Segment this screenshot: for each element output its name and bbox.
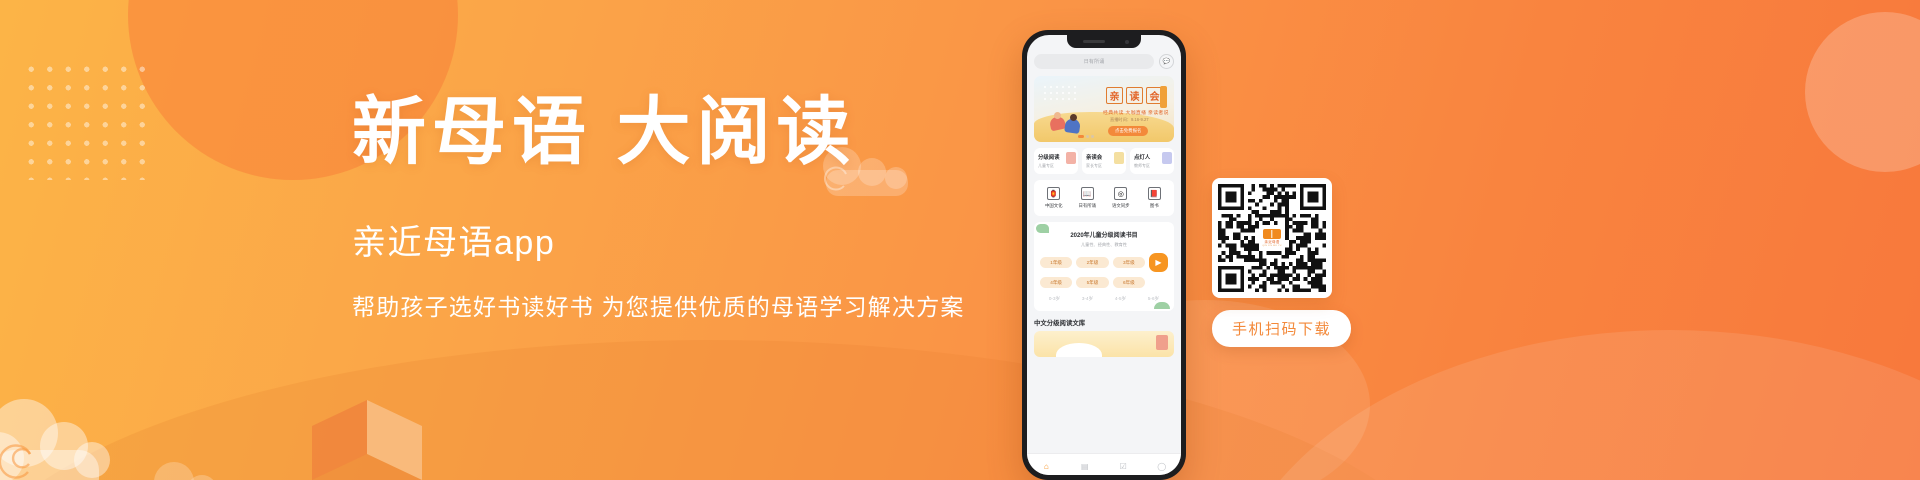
phone-speaker <box>1083 40 1105 43</box>
tab-home[interactable]: ⌂ <box>1027 456 1066 474</box>
grade-pill[interactable]: 4年级 <box>1040 277 1072 288</box>
age-row: 0-3岁 3-4岁 4-5岁 5-6岁 <box>1040 293 1168 304</box>
promo-date: 直播时间：9.16-9.27 <box>1110 117 1149 123</box>
promo-title: 亲 读 会 <box>1106 87 1163 104</box>
book-logo-icon <box>1263 229 1281 239</box>
decor-cube <box>312 392 422 480</box>
library-section-title: 中文分级阅读文库 <box>1034 318 1174 327</box>
quick-link-label: 日有所诵 <box>1071 203 1105 209</box>
quick-link-label: 语文同步 <box>1104 203 1138 209</box>
promo-subtitle: 经典共读 大咖直播 亲读者说 <box>1103 109 1169 116</box>
promo-card[interactable]: 亲 读 会 经典共读 大咖直播 亲读者说 直播时间：9.16-9.27 点击免费… <box>1034 76 1174 142</box>
quick-link-textbook-sync[interactable]: ◎ 语文同步 <box>1104 187 1138 209</box>
quick-link-list: 🏮 中国文化 📖 日有所诵 ◎ 语文同步 📕 图书 <box>1034 180 1174 216</box>
book-icon <box>1162 152 1172 164</box>
carousel-dots[interactable] <box>1078 135 1094 138</box>
target-icon: ◎ <box>1114 187 1127 200</box>
carousel-dot[interactable] <box>1091 135 1094 138</box>
decor-arc <box>1056 343 1102 357</box>
book-icon <box>1114 152 1124 164</box>
qr-code[interactable]: 亲近母语 QIN JIN MU YU <box>1212 178 1332 298</box>
quick-link-label: 中国文化 <box>1037 203 1071 209</box>
quick-link-label: 图书 <box>1138 203 1172 209</box>
age-pill[interactable]: 3-4岁 <box>1073 293 1102 304</box>
age-pill[interactable]: 0-3岁 <box>1040 293 1069 304</box>
book-open-icon: 📖 <box>1081 187 1094 200</box>
home-icon: ⌂ <box>1044 462 1049 471</box>
decor-leaf <box>1036 224 1049 233</box>
qr-download-block: 亲近母语 QIN JIN MU YU 手机扫码下载 <box>1212 178 1332 347</box>
booklist-subtitle: 儿童性、经典性、教育性 <box>1040 242 1168 248</box>
decor-hill-bottom-right <box>1220 330 1920 480</box>
decor-dot-grid <box>22 60 152 180</box>
lantern-icon: 🏮 <box>1047 187 1060 200</box>
grade-pill[interactable]: 5年级 <box>1076 277 1108 288</box>
book-icon <box>1156 335 1168 350</box>
lantern-glyph: 🏮 <box>1049 190 1058 198</box>
play-button[interactable]: ▶ <box>1149 253 1168 272</box>
grade-pill[interactable]: 3年级 <box>1113 257 1145 268</box>
age-pill[interactable]: 4-5岁 <box>1106 293 1135 304</box>
promo-title-char: 读 <box>1126 87 1143 104</box>
decor-circle-right <box>1805 12 1920 172</box>
phone-camera <box>1125 40 1129 44</box>
grade-row-1: 1年级 2年级 3年级 ▶ <box>1040 253 1168 272</box>
person-icon: ◯ <box>1157 462 1166 471</box>
message-icon[interactable]: 💬 <box>1159 54 1174 69</box>
decor-leaf <box>1154 302 1170 309</box>
brand-name-pinyin: QIN JIN MU YU <box>1262 245 1281 247</box>
decor-hill-bottom <box>0 340 1460 480</box>
grade-pill[interactable]: 1年级 <box>1040 257 1072 268</box>
booklist-title: 2020年儿童分级阅读书目 <box>1040 230 1168 239</box>
carousel-dot[interactable] <box>1086 135 1089 138</box>
phone-notch <box>1067 35 1141 48</box>
grade-pill[interactable]: 2年级 <box>1076 257 1108 268</box>
phone-screen: 日有所诵 💬 亲 读 会 经典共读 大咖直播 <box>1027 35 1181 475</box>
app-search-row: 日有所诵 💬 <box>1034 54 1174 69</box>
book-icon: 📕 <box>1148 187 1161 200</box>
decor-sky-dots <box>1042 84 1078 102</box>
download-button[interactable]: 手机扫码下载 <box>1212 310 1351 347</box>
quick-link-daily-recitation[interactable]: 📖 日有所诵 <box>1071 187 1105 209</box>
cloud-icon <box>148 450 238 480</box>
phone-mockup: 日有所诵 💬 亲 读 会 经典共读 大咖直播 <box>1022 30 1186 480</box>
zone-card-list: 分级阅读 儿童专区 亲读会 家长专区 点灯人 教师专区 <box>1034 148 1174 174</box>
page-title: 新母语 大阅读 <box>352 92 1012 175</box>
carousel-dot[interactable] <box>1078 135 1084 138</box>
book-open-glyph: 📖 <box>1083 190 1092 198</box>
book-glyph: 📕 <box>1150 190 1159 198</box>
brand-logo: 亲近母语 QIN JIN MU YU <box>1259 225 1285 251</box>
check-icon: ☑ <box>1120 462 1127 471</box>
app-name-subtitle: 亲近母语app <box>352 215 1012 264</box>
promo-cta-button[interactable]: 点击免费报名 <box>1108 126 1148 136</box>
banner-tagline: 帮助孩子选好书读好书 为您提供优质的母语学习解决方案 <box>352 288 1012 322</box>
tab-profile[interactable]: ◯ <box>1143 456 1182 474</box>
zone-card-graded-reading[interactable]: 分级阅读 儿童专区 <box>1034 148 1078 174</box>
bottom-tab-bar: ⌂ ▤ ☑ ◯ <box>1027 453 1181 475</box>
zone-card-parent-club[interactable]: 亲读会 家长专区 <box>1082 148 1126 174</box>
quick-link-books[interactable]: 📕 图书 <box>1138 187 1172 209</box>
promo-banner: 新母语 大阅读 亲近母语app 帮助孩子选好书读好书 为您提供优质的母语学习解决… <box>0 0 1920 480</box>
bookmark-icon <box>1160 86 1167 108</box>
tab-task[interactable]: ☑ <box>1104 456 1143 474</box>
book-icon <box>1066 152 1076 164</box>
illustration-child-blue-head <box>1070 114 1077 121</box>
quick-link-chinese-culture[interactable]: 🏮 中国文化 <box>1037 187 1071 209</box>
promo-title-char: 亲 <box>1106 87 1123 104</box>
booklist-card: 2020年儿童分级阅读书目 儿童性、经典性、教育性 1年级 2年级 3年级 ▶ … <box>1034 222 1174 311</box>
zone-card-teacher[interactable]: 点灯人 教师专区 <box>1130 148 1174 174</box>
grade-pill[interactable]: 6年级 <box>1113 277 1145 288</box>
cloud-icon <box>0 388 134 480</box>
banner-copy: 新母语 大阅读 亲近母语app 帮助孩子选好书读好书 为您提供优质的母语学习解决… <box>352 92 1012 322</box>
illustration-child-red-head <box>1054 112 1061 119</box>
library-card[interactable] <box>1034 331 1174 357</box>
search-input[interactable]: 日有所诵 <box>1034 54 1154 69</box>
list-icon: ▤ <box>1081 462 1089 471</box>
target-glyph: ◎ <box>1118 190 1124 198</box>
grade-row-2: 4年级 5年级 6年级 <box>1040 277 1168 288</box>
tab-course[interactable]: ▤ <box>1066 456 1105 474</box>
